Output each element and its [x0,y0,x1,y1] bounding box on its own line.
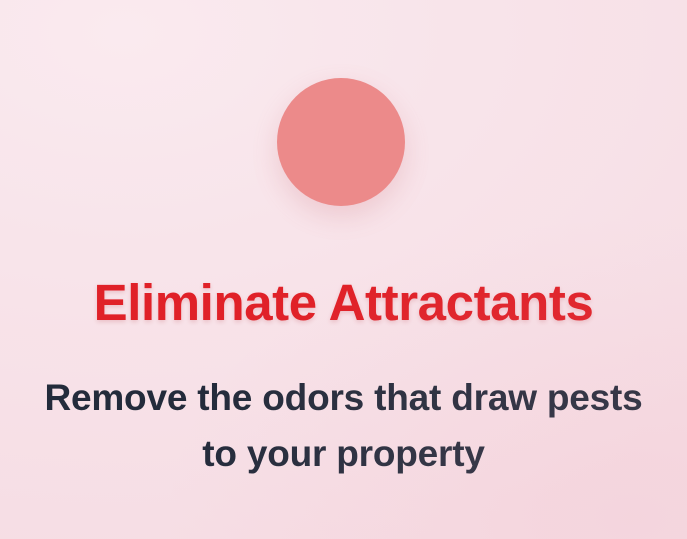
feature-icon-container [277,78,405,206]
page-title: Eliminate Attractants [0,272,687,334]
feature-card: Eliminate Attractants Remove the odors t… [0,0,687,539]
page-subtitle: Remove the odors that draw pests to your… [44,370,644,482]
filled-circle-icon [277,78,405,206]
